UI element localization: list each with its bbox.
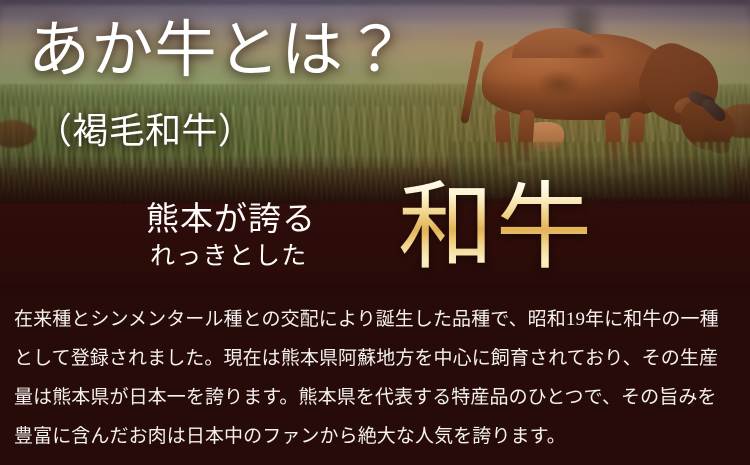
page-title: あか牛とは？	[28, 20, 407, 82]
band-text-group: 熊本が誇る れっきとした	[146, 202, 404, 270]
hero-photo-banner: あか牛とは？ （褐毛和牛）	[0, 0, 750, 204]
body-copy-line: 量は熊本県が日本一を誇ります。熊本県を代表する特産品のひとつで、その旨みを	[14, 378, 736, 417]
body-copy-line: として登録されました。現在は熊本県阿蘇地方を中心に飼育されており、その生産	[14, 339, 736, 378]
highlight-band: 熊本が誇る れっきとした 和牛	[0, 204, 750, 296]
highlight-band-inner: 熊本が誇る れっきとした 和牛	[0, 204, 750, 296]
body-copy-line: 在来種とシンメンタール種との交配により誕生した品種で、昭和19年に和牛の一種	[14, 300, 736, 339]
band-headline-primary: 熊本が誇る	[146, 202, 404, 237]
body-copy-line: 豊富に含んだお肉は日本中のファンから絶大な人気を誇ります。	[14, 417, 736, 456]
band-headline-secondary: れっきとした	[150, 243, 404, 271]
band-gold-keyword: 和牛	[398, 180, 594, 276]
page-subtitle: （褐毛和牛）	[36, 113, 254, 149]
akaushi-infographic-page: あか牛とは？ （褐毛和牛） 熊本が誇る れっきとした 和牛 在来種とシンメンター…	[0, 0, 750, 465]
body-copy-block: 在来種とシンメンタール種との交配により誕生した品種で、昭和19年に和牛の一種 と…	[14, 300, 736, 456]
